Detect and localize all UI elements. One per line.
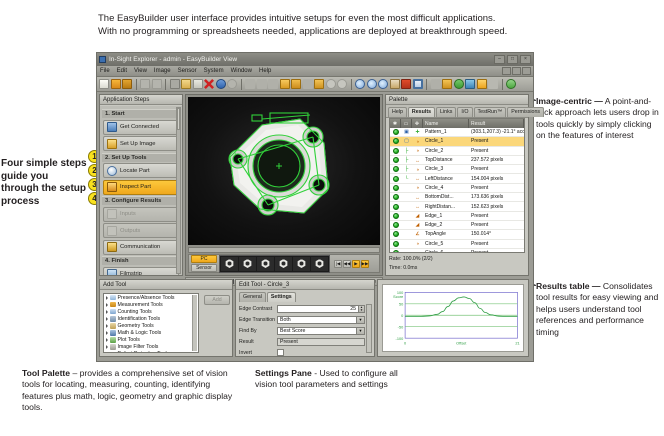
communication-icon	[107, 242, 117, 252]
annotation-settings-pane: Settings Pane - Used to configure all vi…	[255, 368, 410, 391]
sidebar-item-outputs: Outputs	[103, 223, 179, 238]
source-sensor-button[interactable]: Sensor	[191, 264, 217, 272]
palette-title: Palette	[386, 95, 528, 105]
zoom-out-icon[interactable]	[355, 79, 365, 89]
sidebar-item-inputs: Inputs	[103, 207, 179, 222]
window-controls: – □ ×	[494, 55, 531, 64]
spreadsheet-view-icon	[488, 79, 498, 89]
table-row[interactable]: ◑ Circle_6 Present	[390, 249, 524, 253]
inspection-overlay-svg: 12	[188, 97, 380, 245]
redo-small-icon	[152, 79, 162, 89]
row-result: Present	[469, 249, 524, 253]
row-name: Circle_6	[423, 249, 469, 253]
sidebar-label-inspect-part: Inspect Part	[120, 184, 151, 190]
nav-next-icon	[268, 79, 278, 89]
part-thumbnail	[261, 259, 270, 268]
edge-transition-value: Both	[280, 317, 291, 323]
row-tool-icon: ↔	[412, 174, 423, 182]
new-job-icon[interactable]	[99, 79, 109, 89]
svg-text:Offset: Offset	[456, 342, 467, 346]
row-tool-icon: ↔	[412, 156, 423, 164]
sidebar-item-locate-part[interactable]: Locate Part	[103, 163, 179, 178]
results-footer: Rate: 100.0% (2/2) Time: 0.0ms	[389, 254, 525, 273]
status-ok-icon	[393, 194, 399, 200]
row-status-dot	[390, 137, 401, 145]
image-view-panel: 12 PC Sensor |◀	[185, 94, 383, 276]
row-name: Circle_2	[423, 147, 469, 155]
filmstrip-next-button[interactable]: ▶▶	[361, 260, 369, 268]
copy-icon[interactable]	[181, 79, 191, 89]
folder-up-icon[interactable]	[291, 79, 301, 89]
table-row[interactable]: ∠ TopAngle 150.014°	[390, 230, 524, 239]
application-steps-scrollbar[interactable]	[176, 107, 181, 274]
row-tool-icon: ◑	[412, 165, 423, 173]
record-icon	[326, 79, 336, 89]
step-group-configure-results: 3. Configure Results	[102, 196, 180, 205]
filmstrip-frame[interactable]	[293, 257, 310, 271]
maximize-button[interactable]: □	[507, 55, 518, 64]
tab-permissions[interactable]: Permissions	[507, 107, 544, 117]
toolbar-separator-1	[136, 79, 137, 90]
source-toggle: PC Sensor	[191, 255, 217, 272]
edit-tool-tabs: General Settings	[236, 290, 374, 302]
sidebar-item-set-up-image[interactable]: Set Up Image	[103, 136, 179, 151]
table-row[interactable]: ▣ ✛ Pattern_1 (303.1,207.3) -21.1° accep…	[390, 128, 524, 137]
row-spacer	[401, 212, 412, 220]
close-button[interactable]: ×	[520, 55, 531, 64]
add-tool-panel: Add Tool Presence/Absence Tools Measurem…	[99, 279, 233, 357]
field-find-by: Find By Best Score ▼	[239, 326, 365, 336]
annotation-four-steps: Four simple steps guide you through the …	[1, 158, 87, 208]
row-name: LeftDistance	[423, 174, 469, 182]
row-name: Circle_3	[423, 165, 469, 173]
list-item[interactable]: Counting Tools	[104, 308, 198, 315]
row-tool-icon: ✛	[412, 128, 423, 136]
row-spacer	[401, 193, 412, 201]
menu-item-file[interactable]: File	[100, 68, 110, 74]
sidebar-item-inspect-part[interactable]: Inspect Part	[103, 180, 179, 195]
app-logo-icon	[99, 56, 106, 63]
inspect-icon	[107, 182, 117, 192]
field-invert: Invert	[239, 348, 365, 358]
row-spacer	[401, 221, 412, 229]
row-result: Present	[469, 137, 524, 145]
column-header-tool: ✥	[412, 119, 423, 128]
sidebar-label-filmstrip: Filmstrip	[120, 271, 142, 275]
scrollbar-thumb[interactable]	[177, 108, 180, 130]
expand-arrow-icon[interactable]	[106, 303, 108, 307]
row-status-dot	[390, 230, 401, 238]
image-canvas[interactable]: 12	[188, 97, 380, 245]
field-edge-contrast: Edge Contrast 25 ▲▼	[239, 304, 365, 314]
defect-detection-icon	[110, 352, 116, 353]
undo-icon[interactable]	[216, 79, 226, 89]
menu-item-system[interactable]: System	[204, 68, 224, 74]
svg-text:-100: -100	[396, 337, 404, 341]
status-ok-icon	[393, 157, 399, 163]
tab-settings[interactable]: Settings	[267, 292, 296, 302]
label-edge-contrast: Edge Contrast	[239, 306, 277, 312]
tool-label: Geometry Tools	[118, 323, 154, 329]
application-steps-panel: Application Steps 1. Start Get Connected…	[99, 94, 183, 276]
filmstrip-frame[interactable]	[275, 257, 292, 271]
row-status-dot	[390, 165, 401, 173]
sidebar-label-locate-part: Locate Part	[120, 168, 150, 174]
table-row[interactable]: ├ ◑ Circle_2 Present	[390, 147, 524, 156]
row-status-dot	[390, 240, 401, 248]
sidebar-label-get-connected: Get Connected	[120, 124, 159, 130]
invert-checkbox[interactable]	[277, 349, 284, 356]
source-pc-button[interactable]: PC	[191, 255, 217, 263]
row-tool-icon: ◑	[412, 184, 423, 192]
tool-list-scrollbar[interactable]	[192, 295, 197, 351]
tool-label: Presence/Absence Tools	[118, 295, 175, 301]
table-row[interactable]: ◑ Circle_5 Present	[390, 240, 524, 249]
label-find-by: Find By	[239, 328, 277, 334]
tab-general[interactable]: General	[239, 292, 266, 302]
row-link-icon: ├	[401, 156, 412, 164]
help-icon[interactable]	[506, 79, 516, 89]
field-edge-transition: Edge Transition Both ▼	[239, 315, 365, 325]
minimize-button[interactable]: –	[494, 55, 505, 64]
filmstrip-frame[interactable]	[311, 257, 328, 271]
counting-icon	[110, 309, 116, 315]
toolbar-separator-5	[426, 79, 427, 90]
edge-contrast-stepper[interactable]: ▲▼	[359, 305, 365, 314]
label-invert: Invert	[239, 350, 277, 356]
add-tool-button[interactable]: Add	[204, 295, 230, 305]
list-item[interactable]: Identification Tools	[104, 315, 198, 322]
row-status-dot	[390, 174, 401, 182]
tab-testrun[interactable]: TestRun™	[474, 107, 507, 117]
list-item[interactable]: Math & Logic Tools	[104, 329, 198, 336]
sidebar-item-filmstrip[interactable]: Filmstrip	[103, 267, 179, 276]
chevron-down-icon[interactable]: ▼	[356, 328, 364, 335]
column-header-graphics: ▭	[401, 119, 412, 128]
expand-arrow-icon[interactable]	[106, 331, 108, 335]
image-icon	[107, 139, 117, 149]
label-result: Result	[239, 339, 277, 345]
row-tool-icon: ◢	[412, 212, 423, 220]
expand-arrow-icon[interactable]	[106, 352, 108, 353]
row-name: Circle_5	[423, 240, 469, 248]
plot-icon	[110, 337, 116, 343]
part-thumbnail	[297, 259, 306, 268]
table-row[interactable]: └ ↔ LeftDistance 154.004 pixels	[390, 174, 524, 183]
score-plot-svg: 100500-50-100Score021Offset	[383, 285, 523, 351]
toolbar-separator-2	[165, 79, 166, 90]
refresh-icon[interactable]	[454, 79, 464, 89]
tool-label: Defect Detection Tools	[118, 351, 170, 353]
results-table[interactable]: ✱ ▭ ✥ Name Result ▣ ✛ Pattern_1 (303.1,2…	[389, 118, 525, 253]
window-title: In-Sight Explorer - admin - EasyBuilder …	[109, 56, 237, 63]
tool-label: Image Filter Tools	[118, 344, 159, 350]
row-result: Present	[469, 147, 524, 155]
sidebar-item-communication[interactable]: Communication	[103, 240, 179, 255]
part-thumbnail	[315, 259, 324, 268]
list-item[interactable]: Plot Tools	[104, 337, 198, 344]
filmstrip-frames	[219, 255, 330, 273]
status-ok-icon	[393, 222, 399, 228]
results-rate: Rate: 100.0% (2/2)	[389, 255, 525, 264]
row-spacer	[401, 230, 412, 238]
annotation-image-centric: Image-centric — A point-and-click approa…	[536, 96, 662, 142]
list-item[interactable]: Presence/Absence Tools	[104, 294, 198, 301]
toolbar-separator-6	[502, 79, 503, 90]
row-status-dot	[390, 202, 401, 210]
row-link-icon: ├	[401, 147, 412, 155]
menu-item-edit[interactable]: Edit	[117, 68, 127, 74]
sidebar-item-get-connected[interactable]: Get Connected	[103, 120, 179, 135]
application-steps-title: Application Steps	[100, 95, 182, 105]
row-tool-icon: ↔	[412, 193, 423, 201]
row-status-dot	[390, 128, 401, 136]
row-spacer	[401, 240, 412, 248]
annotation-settings-pane-title: Settings Pane	[255, 368, 312, 378]
toolbar	[97, 77, 533, 92]
settings-gear-icon[interactable]	[465, 79, 475, 89]
row-tool-icon: ↔	[412, 202, 423, 210]
tool-palette-list[interactable]: Presence/Absence Tools Measurement Tools…	[103, 293, 199, 353]
tab-help[interactable]: Help	[388, 107, 407, 117]
svg-text:0: 0	[404, 342, 406, 346]
menu-item-sensor[interactable]: Sensor	[178, 68, 197, 74]
tab-results[interactable]: Results	[408, 107, 435, 117]
table-row[interactable]: ▢ ◑ Circle_1 Present	[390, 137, 524, 146]
row-name: Pattern_1	[423, 128, 469, 136]
annotation-tool-palette: Tool Palette – provides a comprehensive …	[22, 368, 237, 414]
row-result: Present	[469, 212, 524, 220]
row-result: Present	[469, 240, 524, 248]
row-name: TopAngle	[423, 230, 469, 238]
step-group-finish: 4. Finish	[102, 256, 180, 265]
filmstrip-icon	[107, 269, 117, 275]
filmstrip-first-button[interactable]: |◀	[334, 260, 342, 268]
row-result: Present	[469, 184, 524, 192]
filmstrip-frame[interactable]	[257, 257, 274, 271]
table-row[interactable]: ↔ RightDistan... 152.623 pixels	[390, 202, 524, 211]
row-status-dot	[390, 156, 401, 164]
table-row[interactable]: ↔ BottomDist... 173.636 pixels	[390, 193, 524, 202]
folder-new-icon	[303, 79, 313, 89]
row-status-dot	[390, 184, 401, 192]
row-result: Present	[469, 165, 524, 173]
tool-label: Counting Tools	[118, 309, 152, 315]
stop-icon	[337, 79, 347, 89]
table-row[interactable]: ◢ Edge_2 Present	[390, 221, 524, 230]
filmstrip-play-button[interactable]: ▶	[352, 260, 360, 268]
list-item[interactable]: Image Filter Tools	[104, 344, 198, 351]
filmstrip-bar: PC Sensor |◀ ◀◀ ▶ ▶▶	[188, 254, 380, 273]
tool-label: Math & Logic Tools	[118, 330, 162, 336]
row-name: Circle_1	[423, 137, 469, 145]
image-horizontal-scrollbar[interactable]	[188, 247, 380, 253]
workspace: Application Steps 1. Start Get Connected…	[97, 92, 533, 361]
expand-arrow-icon[interactable]	[106, 317, 108, 321]
fullscreen-icon[interactable]	[413, 79, 423, 89]
row-graphic-icon[interactable]: ▣	[401, 128, 412, 136]
zoom-in-icon[interactable]	[367, 79, 377, 89]
expand-arrow-icon[interactable]	[106, 310, 108, 314]
redo-icon	[227, 79, 237, 89]
row-tool-icon: ◑	[412, 147, 423, 155]
status-ok-icon	[393, 241, 399, 247]
inputs-icon	[107, 209, 117, 219]
status-ok-icon	[393, 231, 399, 237]
status-ok-icon	[393, 176, 399, 182]
svg-text:-50: -50	[398, 325, 404, 329]
table-row[interactable]: ◢ Edge_1 Present	[390, 212, 524, 221]
save-job-icon[interactable]	[122, 79, 132, 89]
paste-icon[interactable]	[193, 79, 203, 89]
mdi-minimize-button[interactable]	[502, 67, 511, 75]
row-result: 173.636 pixels	[469, 193, 524, 201]
edge-contrast-input[interactable]: 25	[277, 305, 359, 314]
row-status-dot	[390, 212, 401, 220]
mdi-window-controls	[502, 67, 531, 75]
menu-bar: File Edit View Image Sensor System Windo…	[97, 66, 533, 77]
connect-icon	[107, 122, 117, 132]
filmstrip-frame[interactable]	[239, 257, 256, 271]
mdi-close-button[interactable]	[522, 67, 531, 75]
step-group-start: 1. Start	[102, 109, 180, 118]
locate-icon	[107, 166, 117, 176]
table-row[interactable]: ├ ↔ TopDistance 237.572 pixels	[390, 156, 524, 165]
filmstrip-prev-button[interactable]: ◀◀	[343, 260, 351, 268]
status-ok-icon	[393, 213, 399, 219]
geometry-icon	[110, 323, 116, 329]
intro-caption: The EasyBuilder user interface provides …	[98, 12, 643, 38]
filmstrip-controls: |◀ ◀◀ ▶ ▶▶	[334, 260, 369, 268]
row-result: 152.623 pixels	[469, 202, 524, 210]
row-name: BottomDist...	[423, 193, 469, 201]
tools-icon[interactable]	[442, 79, 452, 89]
row-graphic-icon[interactable]: ▢	[401, 137, 412, 145]
row-link-icon: ├	[401, 165, 412, 173]
table-row[interactable]: ◑ Circle_4 Present	[390, 184, 524, 193]
tool-label: Identification Tools	[118, 316, 161, 322]
menu-item-help[interactable]: Help	[259, 68, 271, 74]
intro-line-1: The EasyBuilder user interface provides …	[98, 12, 643, 25]
edge-transition-select[interactable]: Both ▼	[277, 316, 365, 325]
chevron-down-icon[interactable]: ▼	[356, 317, 364, 324]
row-tool-icon: ◢	[412, 221, 423, 229]
row-status-dot	[390, 249, 401, 253]
expand-arrow-icon[interactable]	[106, 296, 108, 300]
folder-icon[interactable]	[314, 79, 324, 89]
status-ok-icon	[393, 138, 399, 144]
menu-item-image[interactable]: Image	[154, 68, 171, 74]
intro-line-2: With no programming or spreadsheets need…	[98, 25, 643, 38]
list-item[interactable]: Geometry Tools	[104, 322, 198, 329]
annotation-tool-palette-title: Tool Palette	[22, 368, 70, 378]
row-tool-icon: ◑	[412, 137, 423, 145]
image-filter-icon	[110, 344, 116, 350]
svg-text:21: 21	[515, 342, 519, 346]
status-ok-icon	[393, 129, 399, 135]
svg-text:50: 50	[399, 302, 403, 306]
application-steps-list: 1. Start Get Connected Set Up Image 2. S…	[100, 106, 182, 275]
menu-item-window[interactable]: Window	[231, 68, 252, 74]
tool-label: Measurement Tools	[118, 302, 163, 308]
annotation-results-table: Results table — Consolidates tool result…	[536, 281, 662, 338]
undo-small-icon	[140, 79, 150, 89]
plot-panel: 100500-50-100Score021Offset	[377, 279, 529, 357]
measurement-icon	[110, 302, 116, 308]
table-row[interactable]: ├ ◑ Circle_3 Present	[390, 165, 524, 174]
expand-arrow-icon[interactable]	[106, 324, 108, 328]
toolbar-separator-4	[351, 79, 352, 90]
list-item[interactable]: Measurement Tools	[104, 301, 198, 308]
sidebar-label-inputs: Inputs	[120, 211, 136, 217]
edit-tool-title: Edit Tool - Circle_3	[236, 280, 374, 290]
cut-icon[interactable]	[170, 79, 180, 89]
easybuilder-view-icon[interactable]	[477, 79, 487, 89]
status-ok-icon	[393, 185, 399, 191]
row-spacer	[401, 202, 412, 210]
open-job-icon[interactable]	[111, 79, 121, 89]
status-ok-icon	[393, 166, 399, 172]
status-ok-icon	[393, 250, 399, 253]
row-result: 150.014°	[469, 230, 524, 238]
add-tool-title: Add Tool	[100, 280, 232, 290]
tab-links[interactable]: Links	[436, 107, 456, 117]
part-thumbnail	[243, 259, 252, 268]
window-titlebar[interactable]: In-Sight Explorer - admin - EasyBuilder …	[97, 53, 533, 66]
nav-first-icon	[245, 79, 255, 89]
sidebar-label-outputs: Outputs	[120, 228, 140, 234]
edit-tool-scrollbar[interactable]	[366, 304, 372, 353]
grid-view-icon[interactable]	[401, 79, 411, 89]
expand-arrow-icon[interactable]	[106, 338, 108, 342]
mdi-restore-button[interactable]	[512, 67, 521, 75]
row-result: (303.1,207.3) -21.1° accep...	[469, 128, 524, 136]
row-name: RightDistan...	[423, 202, 469, 210]
row-link-icon: └	[401, 174, 412, 182]
find-by-select[interactable]: Best Score ▼	[277, 327, 365, 336]
score-plot: 100500-50-100Score021Offset	[382, 284, 524, 352]
menu-item-view[interactable]: View	[134, 68, 147, 74]
folder-open-icon[interactable]	[280, 79, 290, 89]
result-value: Present	[277, 338, 365, 347]
row-tool-icon: ∠	[412, 230, 423, 238]
row-tool-icon: ◑	[412, 249, 423, 253]
label-edge-transition: Edge Transition	[239, 317, 277, 323]
column-header-name: Name	[423, 119, 469, 128]
palette-icon[interactable]	[390, 79, 400, 89]
delete-icon[interactable]	[204, 79, 214, 89]
palette-panel: Palette Help Results Links I/O TestRun™ …	[385, 94, 529, 276]
outputs-icon	[107, 226, 117, 236]
filmstrip-frame[interactable]	[221, 257, 238, 271]
row-status-dot	[390, 221, 401, 229]
column-header-result: Result	[469, 119, 524, 128]
zoom-fit-icon[interactable]	[378, 79, 388, 89]
sidebar-label-set-up-image: Set Up Image	[120, 141, 155, 147]
column-header-enabled: ✱	[390, 119, 401, 128]
expand-arrow-icon[interactable]	[106, 345, 108, 349]
presence-absence-icon	[110, 295, 116, 301]
row-spacer	[401, 184, 412, 192]
list-item[interactable]: Defect Detection Tools	[104, 351, 198, 353]
row-status-dot	[390, 193, 401, 201]
tab-io[interactable]: I/O	[457, 107, 472, 117]
status-ok-icon	[393, 204, 399, 210]
find-by-value: Best Score	[280, 328, 305, 334]
row-result: Present	[469, 221, 524, 229]
part-thumbnail	[279, 259, 288, 268]
row-name: Edge_1	[423, 212, 469, 220]
